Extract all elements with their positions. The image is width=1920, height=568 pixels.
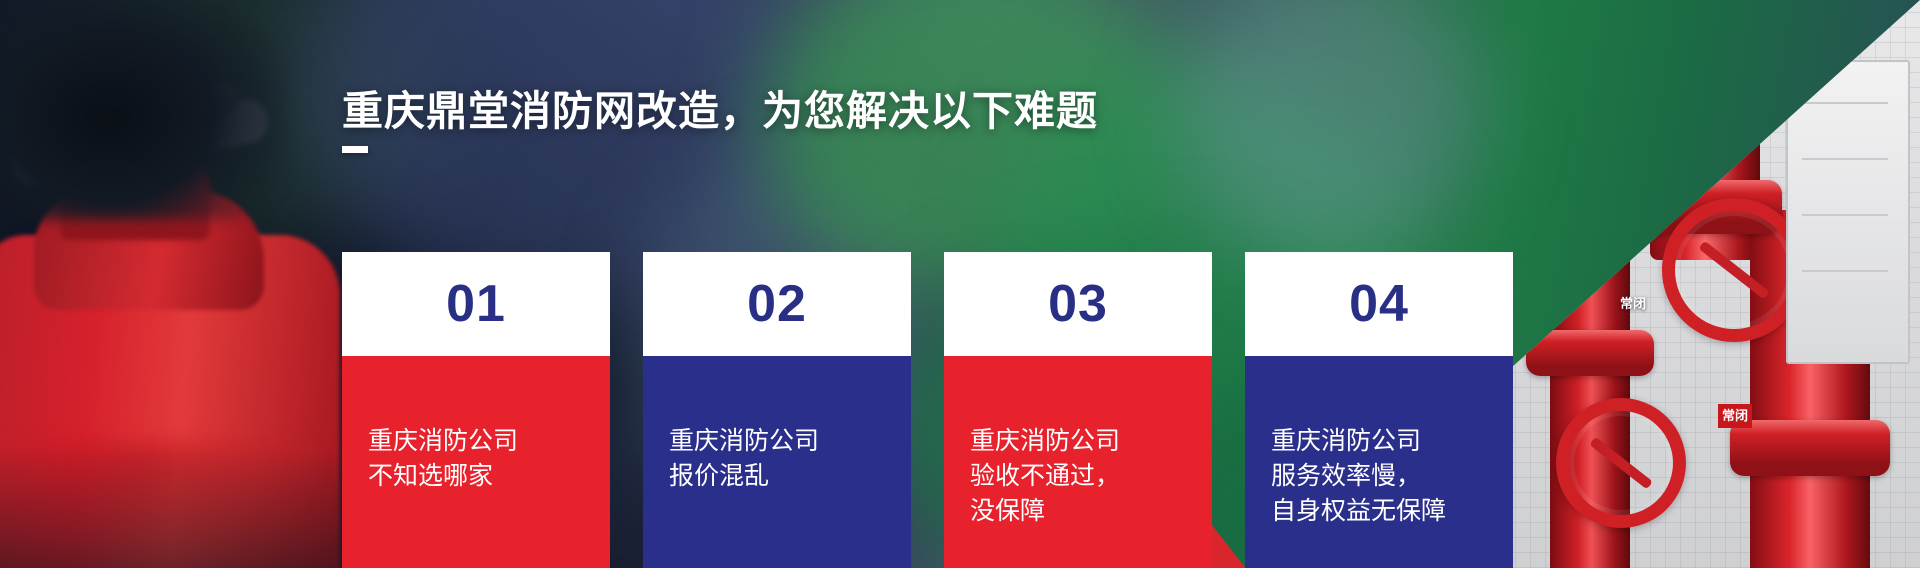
problem-card-list: 01重庆消防公司不知选哪家02重庆消防公司报价混乱03重庆消防公司验收不通过，没… (342, 252, 1582, 568)
banner-content: 重庆鼎堂消防网改造，为您解决以下难题 01重庆消防公司不知选哪家02重庆消防公司… (0, 0, 1920, 568)
page-title: 重庆鼎堂消防网改造，为您解决以下难题 (342, 86, 1222, 136)
problem-card-line: 自身权益无保障 (1271, 494, 1487, 529)
problem-card[interactable]: 03重庆消防公司验收不通过，没保障 (944, 252, 1212, 568)
problem-card-number: 01 (342, 252, 610, 356)
problem-card-number: 02 (643, 252, 911, 356)
problem-card-text: 重庆消防公司报价混乱 (643, 356, 911, 568)
problem-card-line: 重庆消防公司 (1271, 424, 1487, 459)
promo-banner: 常开 常闭 常闭 重庆鼎堂消防网改造，为您解决以下难题 01重庆消防公司不知选哪… (0, 0, 1920, 568)
title-underline-dash (342, 146, 368, 153)
problem-card-number: 03 (944, 252, 1212, 356)
problem-card-text: 重庆消防公司验收不通过，没保障 (944, 356, 1212, 568)
problem-card-line: 没保障 (970, 494, 1186, 529)
problem-card-text: 重庆消防公司不知选哪家 (342, 356, 610, 568)
problem-card-line: 验收不通过， (970, 459, 1186, 494)
problem-card-number: 04 (1245, 252, 1513, 356)
problem-card-line: 服务效率慢， (1271, 459, 1487, 494)
problem-card-line: 报价混乱 (669, 459, 885, 494)
problem-card[interactable]: 01重庆消防公司不知选哪家 (342, 252, 610, 568)
problem-card[interactable]: 02重庆消防公司报价混乱 (643, 252, 911, 568)
problem-card-line: 重庆消防公司 (970, 424, 1186, 459)
problem-card-line: 重庆消防公司 (368, 424, 584, 459)
problem-card[interactable]: 04重庆消防公司服务效率慢，自身权益无保障 (1245, 252, 1513, 568)
problem-card-line: 重庆消防公司 (669, 424, 885, 459)
problem-card-text: 重庆消防公司服务效率慢，自身权益无保障 (1245, 356, 1513, 568)
problem-card-line: 不知选哪家 (368, 459, 584, 494)
